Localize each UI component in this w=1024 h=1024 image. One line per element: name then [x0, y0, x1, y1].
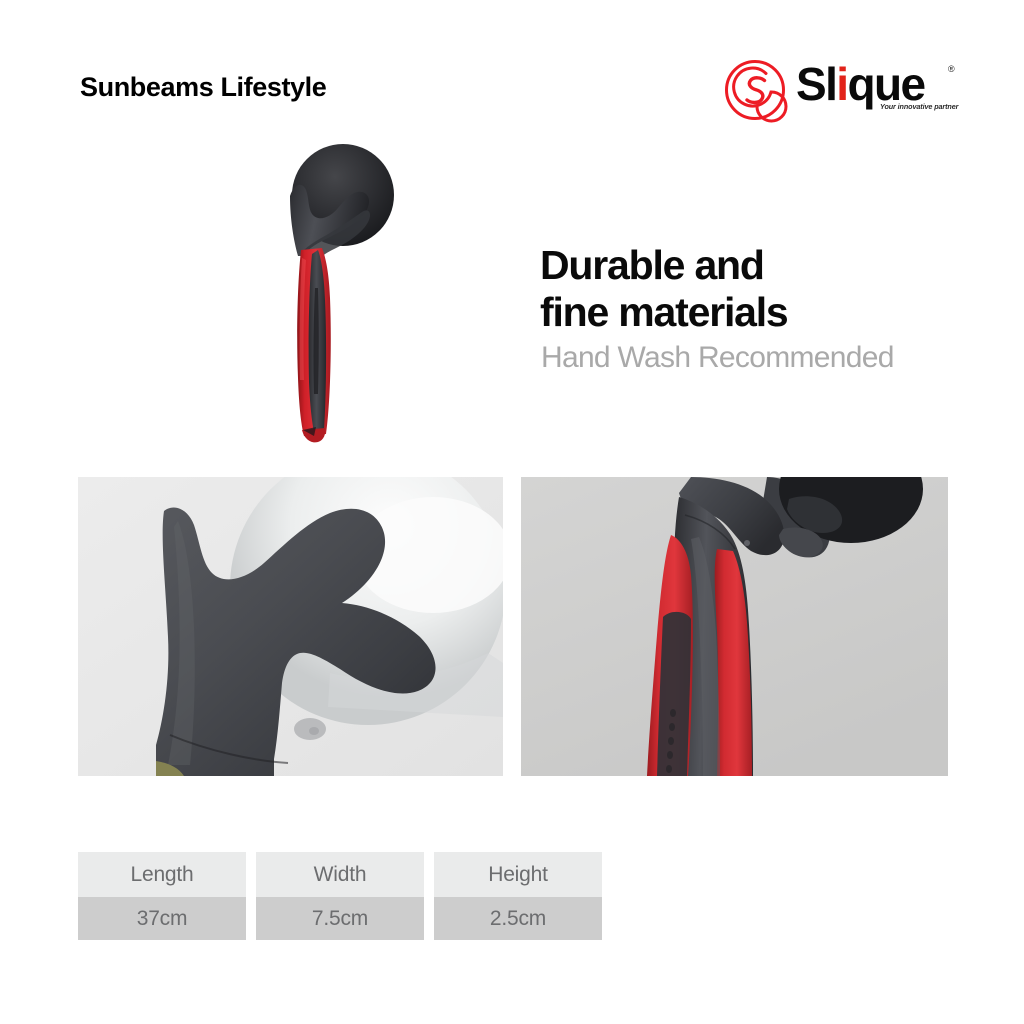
- wordmark-part-before-i: Sl: [796, 58, 836, 110]
- handle-grip-closeup: [521, 477, 948, 776]
- spec-value-height: 2.5cm: [434, 897, 602, 940]
- spec-column-width: Width 7.5cm: [256, 852, 424, 940]
- product-marketing-page: Sunbeams Lifestyle Slique ® Your innovat…: [0, 0, 1024, 1024]
- blade-guard-closeup: [78, 477, 503, 776]
- logo-tagline: Your innovative partner: [880, 102, 958, 111]
- spec-column-height: Height 2.5cm: [434, 852, 602, 940]
- specifications-table: Length 37cm Width 7.5cm Height 2.5cm: [78, 852, 603, 940]
- wordmark-letter-i: i: [836, 58, 847, 110]
- registered-trademark-icon: ®: [948, 64, 955, 74]
- slique-wordmark: Slique ® Your innovative partner: [796, 56, 964, 118]
- brand-name: Sunbeams Lifestyle: [80, 72, 326, 103]
- headline-line-1: Durable and: [540, 242, 960, 289]
- slique-logo: Slique ® Your innovative partner: [722, 55, 962, 127]
- detail-panels: [78, 477, 948, 776]
- pizza-cutter-product-photo: [268, 138, 418, 448]
- spec-header-length: Length: [78, 852, 246, 897]
- headline-line-2: fine materials: [540, 289, 960, 336]
- subheadline: Hand Wash Recommended: [541, 341, 894, 375]
- spec-column-length: Length 37cm: [78, 852, 246, 940]
- headline: Durable and fine materials: [540, 242, 960, 336]
- spec-header-height: Height: [434, 852, 602, 897]
- spec-value-width: 7.5cm: [256, 897, 424, 940]
- spec-header-width: Width: [256, 852, 424, 897]
- spec-value-length: 37cm: [78, 897, 246, 940]
- slique-s-monogram-icon: [722, 57, 788, 123]
